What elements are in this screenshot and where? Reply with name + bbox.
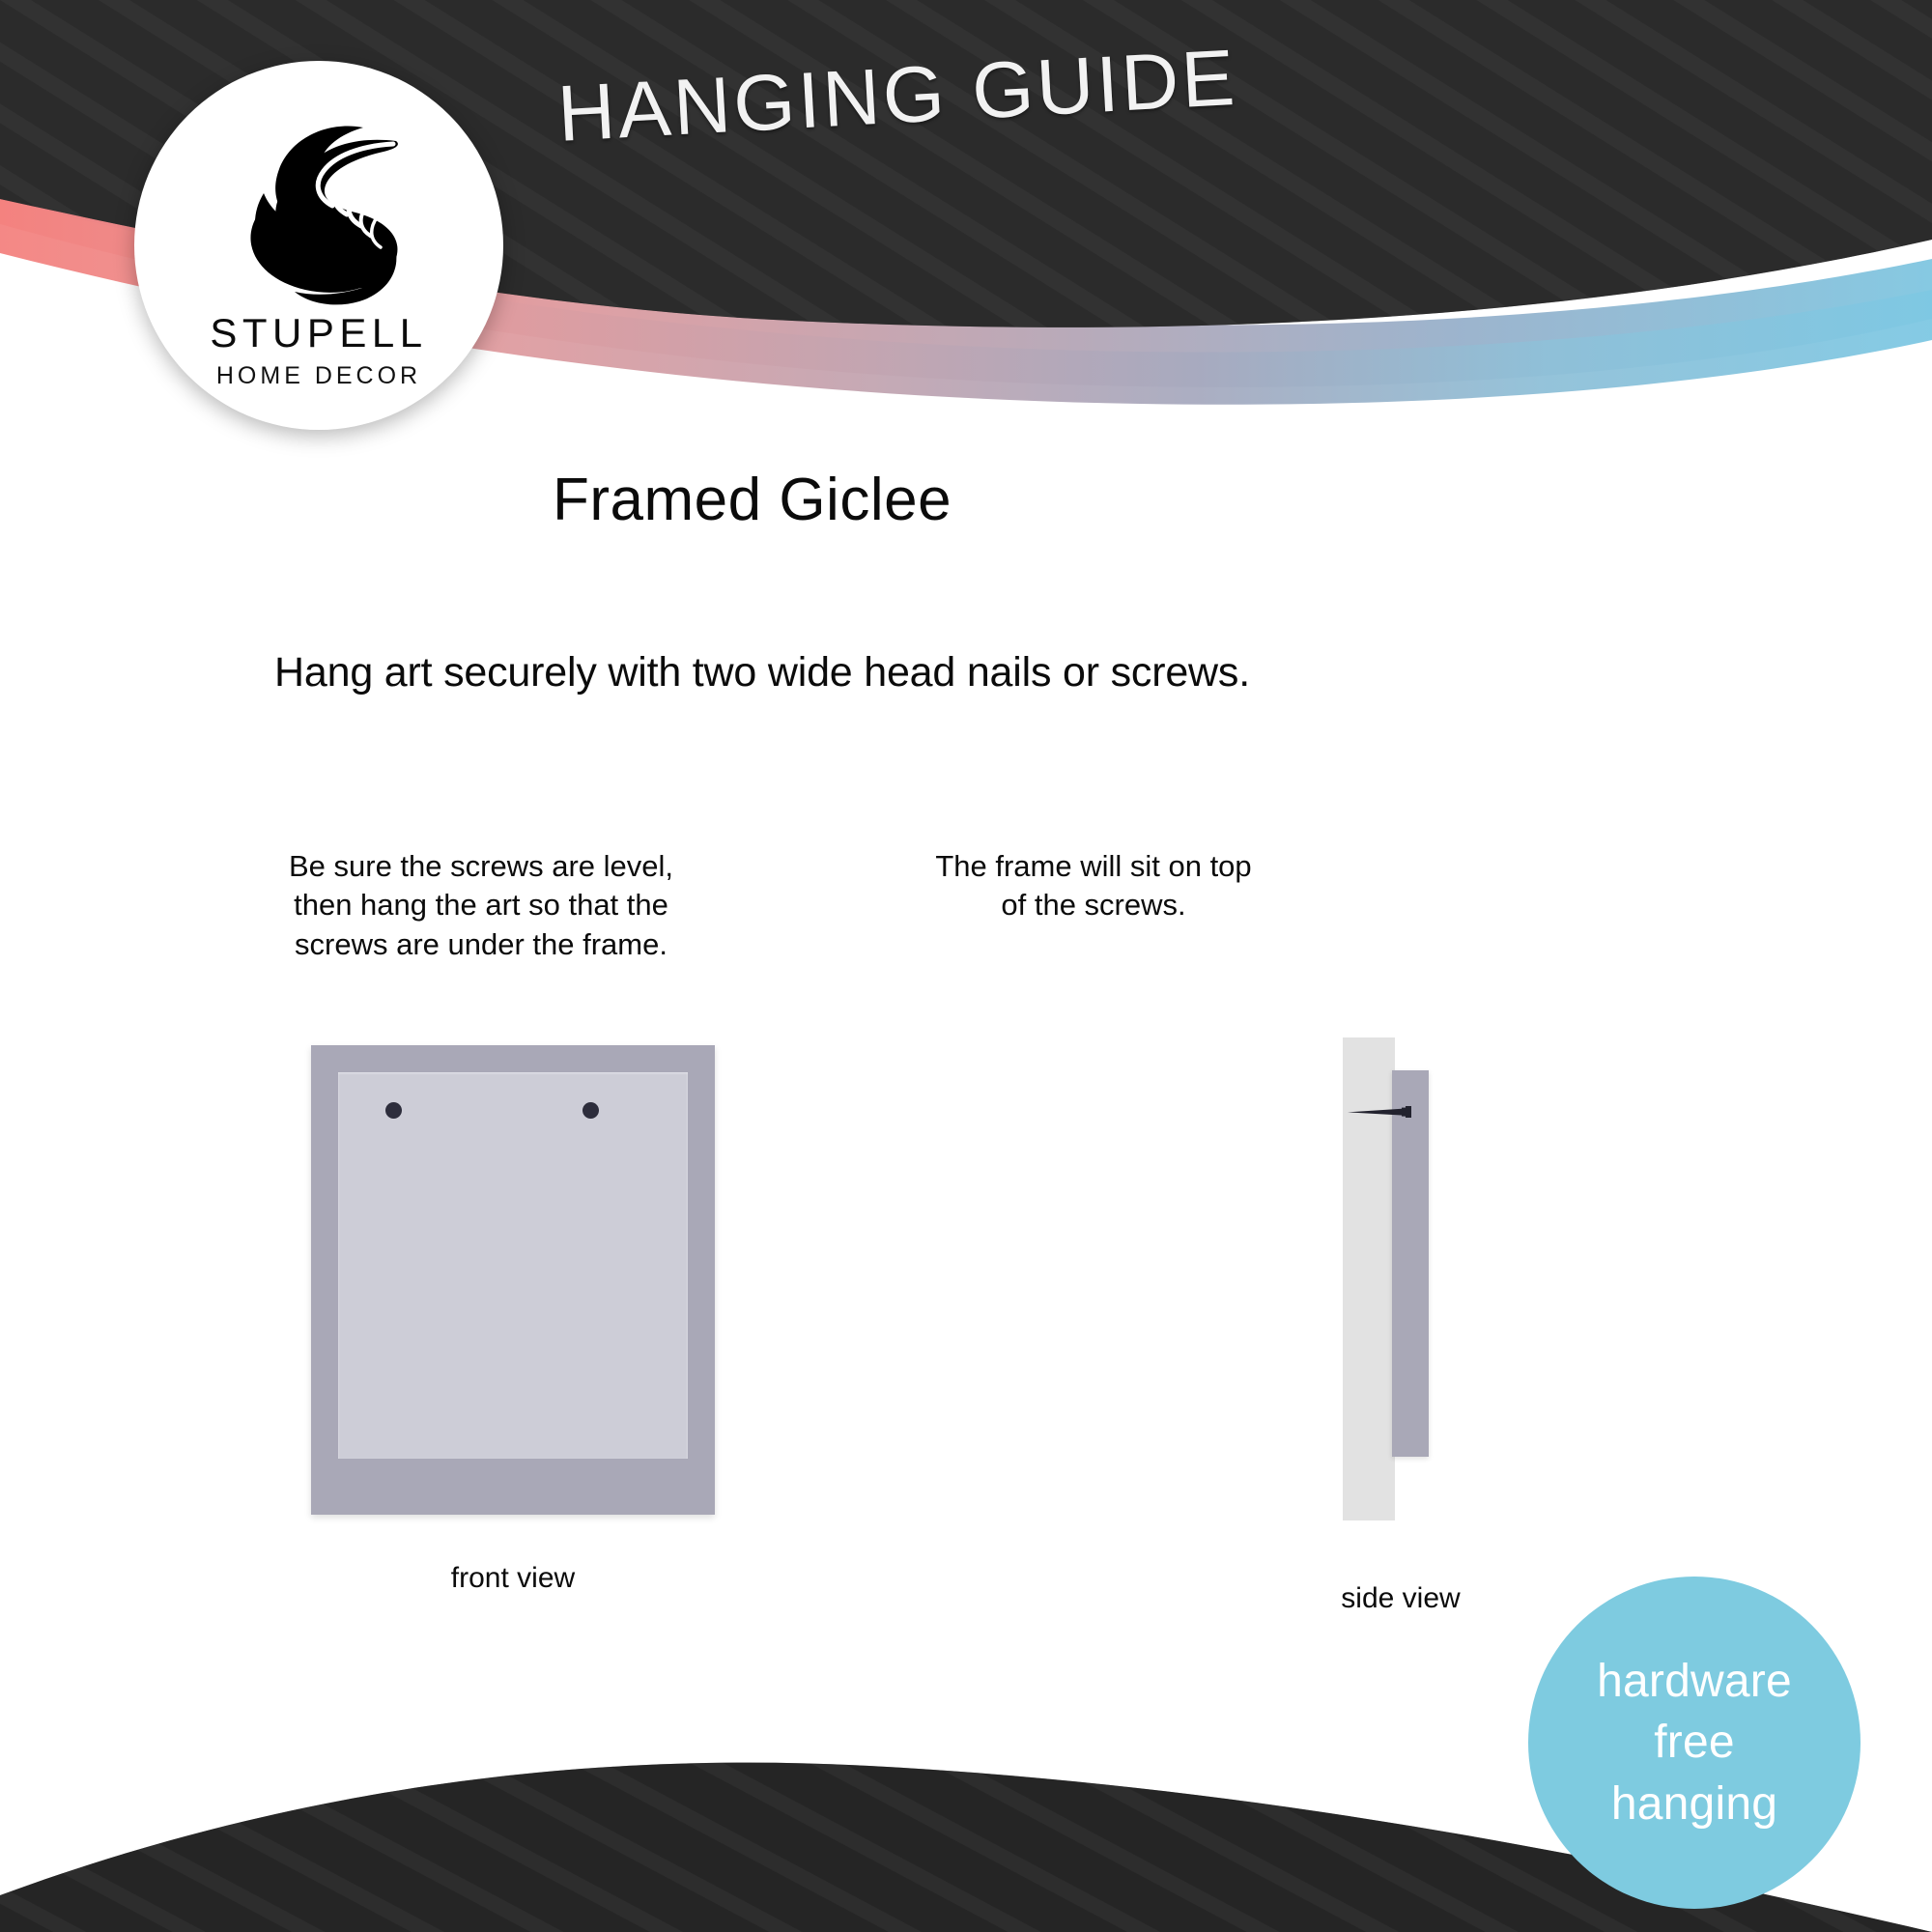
side-caption-line-2: of the screws. — [912, 886, 1275, 924]
main-instruction: Hang art securely with two wide head nai… — [0, 649, 1524, 696]
front-view-frame-diagram — [311, 1045, 715, 1515]
page-title: HANGING GUIDE — [555, 26, 1371, 160]
badge-line-2: free — [1654, 1712, 1735, 1773]
badge-line-1: hardware — [1597, 1651, 1792, 1712]
nail-icon — [1348, 1106, 1427, 1118]
brand-tagline: HOME DECOR — [134, 362, 503, 390]
brand-name: STUPELL — [134, 310, 503, 356]
front-caption-line-1: Be sure the screws are level, — [269, 847, 694, 886]
product-type-title: Framed Giclee — [553, 466, 952, 534]
front-caption-line-2: then hang the art so that the — [269, 886, 694, 924]
hardware-free-badge: hardware free hanging — [1528, 1577, 1861, 1909]
side-view-label: side view — [1265, 1582, 1536, 1615]
front-view-artwork-area — [338, 1072, 688, 1459]
front-caption-line-3: screws are under the frame. — [269, 925, 694, 964]
hanging-guide-page: HANGING GUIDE STUPELL HOME DECOR Framed — [0, 0, 1932, 1932]
side-view-frame — [1392, 1070, 1429, 1457]
side-view-caption: The frame will sit on top of the screws. — [912, 847, 1275, 925]
badge-line-3: hanging — [1611, 1774, 1777, 1834]
front-view-caption: Be sure the screws are level, then hang … — [269, 847, 694, 964]
screw-marker-left — [385, 1102, 402, 1119]
stupell-swan-logo-icon — [227, 115, 411, 308]
side-caption-line-1: The frame will sit on top — [912, 847, 1275, 886]
screw-marker-right — [582, 1102, 599, 1119]
front-view-label: front view — [311, 1562, 715, 1595]
brand-logo-badge: STUPELL HOME DECOR — [134, 61, 503, 430]
